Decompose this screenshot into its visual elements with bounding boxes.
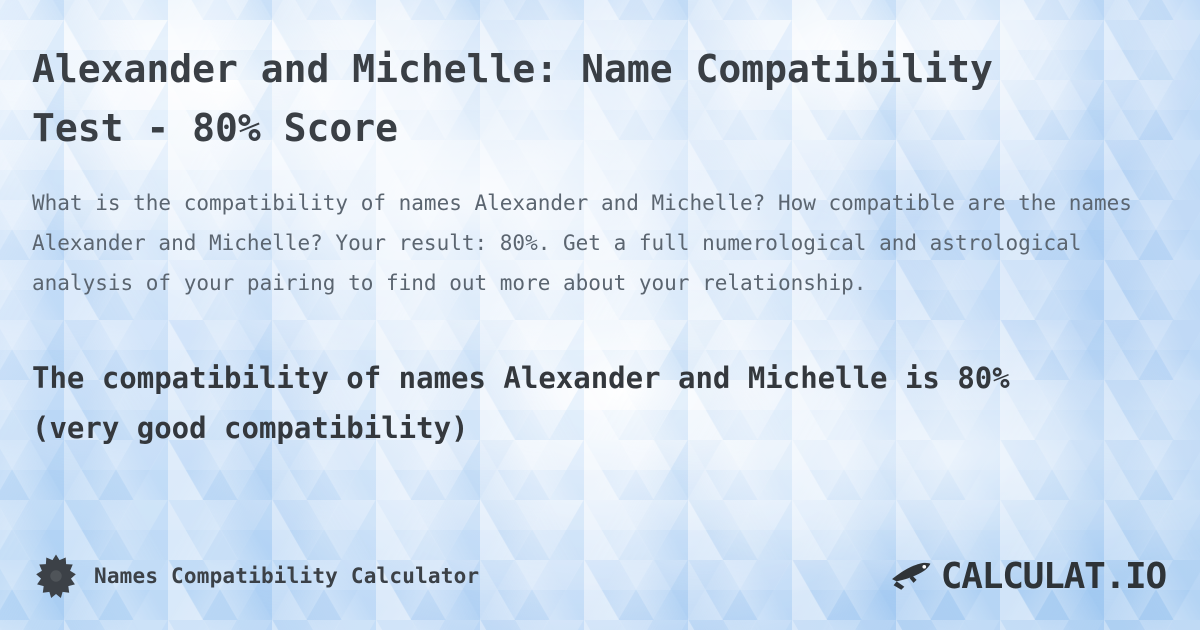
footer-brand-group: Names Compatibility Calculator (34, 554, 479, 598)
page-title: Alexander and Michelle: Name Compatibili… (32, 40, 1052, 158)
rocket-icon (889, 556, 935, 596)
compatibility-result-text: The compatibility of names Alexander and… (32, 353, 1092, 453)
page-root: Alexander and Michelle: Name Compatibili… (0, 0, 1200, 630)
intro-paragraph: What is the compatibility of names Alexa… (32, 183, 1142, 303)
star-burst-icon (34, 554, 78, 598)
brand-logo: CALCULAT.IO (889, 556, 1166, 597)
footer: Names Compatibility Calculator CALCULAT.… (0, 548, 1200, 604)
brand-text: CALCULAT.IO (941, 556, 1166, 597)
content-area: Alexander and Michelle: Name Compatibili… (0, 0, 1200, 630)
footer-label: Names Compatibility Calculator (94, 564, 479, 588)
